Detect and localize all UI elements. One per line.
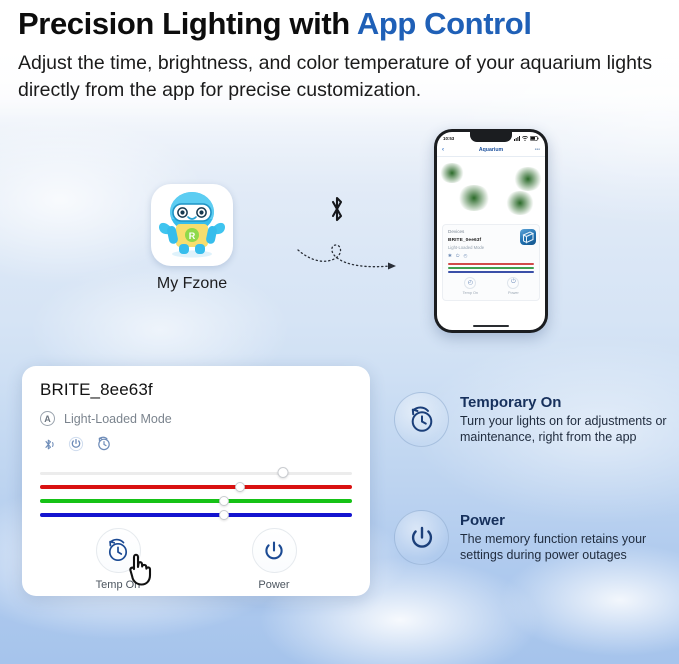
page-subtitle-line1: Adjust the time, brightness, and color t… [18,52,601,74]
slider-group [40,466,352,522]
slider-knob-red[interactable] [235,482,245,492]
plant-frond [439,163,465,183]
phone-slider-green[interactable] [448,267,534,269]
power-label: Power [224,579,324,591]
phone-slider-blue[interactable] [448,271,534,273]
svg-text:R: R [189,231,196,241]
device-control-card: BRITE_8ee63f A Light-Loaded Mode [22,366,370,596]
phone-devices-title: Devices [448,229,464,234]
slider-track-brightness [40,472,352,475]
power-icon [252,528,297,573]
status-indicators [514,136,539,141]
slider-track-blue [40,513,352,517]
phone-screen: 10:53 ‹ Aquarium ••• [437,132,545,330]
phone-slider-red[interactable] [448,263,534,265]
device-mode-label: Light-Loaded Mode [64,412,172,426]
phone-device-mode-label: Light-Loaded Mode [448,245,484,250]
phone-temp-on-label: Temp On [463,291,478,295]
timer-icon[interactable]: ◴ [464,253,468,259]
feature-power: Power The memory function retains your s… [394,510,679,565]
timer-icon[interactable] [96,436,112,452]
device-name: BRITE_8ee63f [40,380,352,400]
slider-track-red [40,485,352,489]
feature-text: Power The memory function retains your s… [460,510,679,563]
status-time: 10:53 [443,136,454,141]
promo-page: Precision Lighting with App Control Adju… [0,0,679,664]
power-button[interactable]: Power [224,528,324,591]
slider-knob-green[interactable] [219,496,229,506]
timer-icon [394,392,449,447]
power-icon[interactable]: ⏻ [456,253,460,259]
feature-description: The memory function retains your setting… [460,531,679,563]
planted-aquarium-photo [437,157,545,220]
phone-action-buttons: ◴ Temp On ⏻ Power [448,277,534,295]
more-options-icon[interactable]: ••• [535,147,540,153]
page-title: Precision Lighting with App Control [18,6,671,42]
hand-pointer-cursor [122,543,168,594]
slider-track-green [40,499,352,503]
slider-red[interactable] [40,480,352,494]
phone-nav-bar: ‹ Aquarium ••• [437,144,545,157]
feature-description: Turn your lights on for adjustments or m… [460,413,679,445]
slider-blue[interactable] [40,508,352,522]
mode-badge-icon: A [40,411,55,426]
device-action-buttons: Temp On Power [40,528,352,591]
light-bar-cube-icon [520,229,536,245]
feature-temporary-on: Temporary On Turn your lights on for adj… [394,392,679,447]
phone-power-label: Power [507,291,519,295]
my-fzone-mascot-icon[interactable]: R [151,184,233,266]
slider-green[interactable] [40,494,352,508]
phone-nav-title: Aquarium [479,147,503,153]
power-icon[interactable] [68,436,84,452]
phone-mockup: 10:53 ‹ Aquarium ••• [434,129,548,333]
bluetooth-icon[interactable] [40,436,56,452]
app-block[interactable]: R My Fzone [146,184,238,293]
battery-icon [530,136,539,141]
dotted-curved-arrow-icon [296,232,400,279]
slider-brightness[interactable] [40,466,352,480]
page-title-plain: Precision Lighting with [18,6,357,41]
plant-frond [513,167,543,191]
feature-desc-line1: The memory function retains your [460,532,646,546]
page-title-accent: App Control [357,6,532,41]
phone-notch [470,132,512,142]
bluetooth-icon [326,194,348,229]
bluetooth-icon[interactable]: ✱ [448,253,452,259]
feature-desc-line2: settings during power outages [460,548,627,562]
phone-temp-on-button[interactable]: ◴ Temp On [463,277,478,295]
signal-icon [514,136,520,141]
back-chevron-icon[interactable]: ‹ [442,147,444,153]
slider-knob-blue[interactable] [219,510,229,520]
phone-home-indicator [473,325,509,327]
timer-icon: ◴ [464,277,476,289]
phone-device-mode: Light-Loaded Mode [448,245,534,250]
light-glow [487,180,500,202]
feature-title: Temporary On [460,394,679,412]
app-label: My Fzone [124,275,260,293]
slider-knob-brightness[interactable] [278,467,289,478]
page-subtitle: Adjust the time, brightness, and color t… [18,50,669,104]
mascot-svg: R [151,184,233,266]
wifi-icon [522,136,528,141]
feature-desc-line1: Turn your lights on for adjustments [460,414,652,428]
phone-device-status-icons: ✱ ⏻ ◴ [448,253,534,259]
power-icon: ⏻ [507,277,519,289]
phone-power-button[interactable]: ⏻ Power [507,277,519,295]
phone-slider-group [448,263,534,273]
device-status-icons [40,436,352,452]
plant-frond [505,191,535,215]
feature-title: Power [460,512,679,530]
feature-text: Temporary On Turn your lights on for adj… [460,392,679,445]
power-icon [394,510,449,565]
device-mode-row: A Light-Loaded Mode [40,411,352,426]
